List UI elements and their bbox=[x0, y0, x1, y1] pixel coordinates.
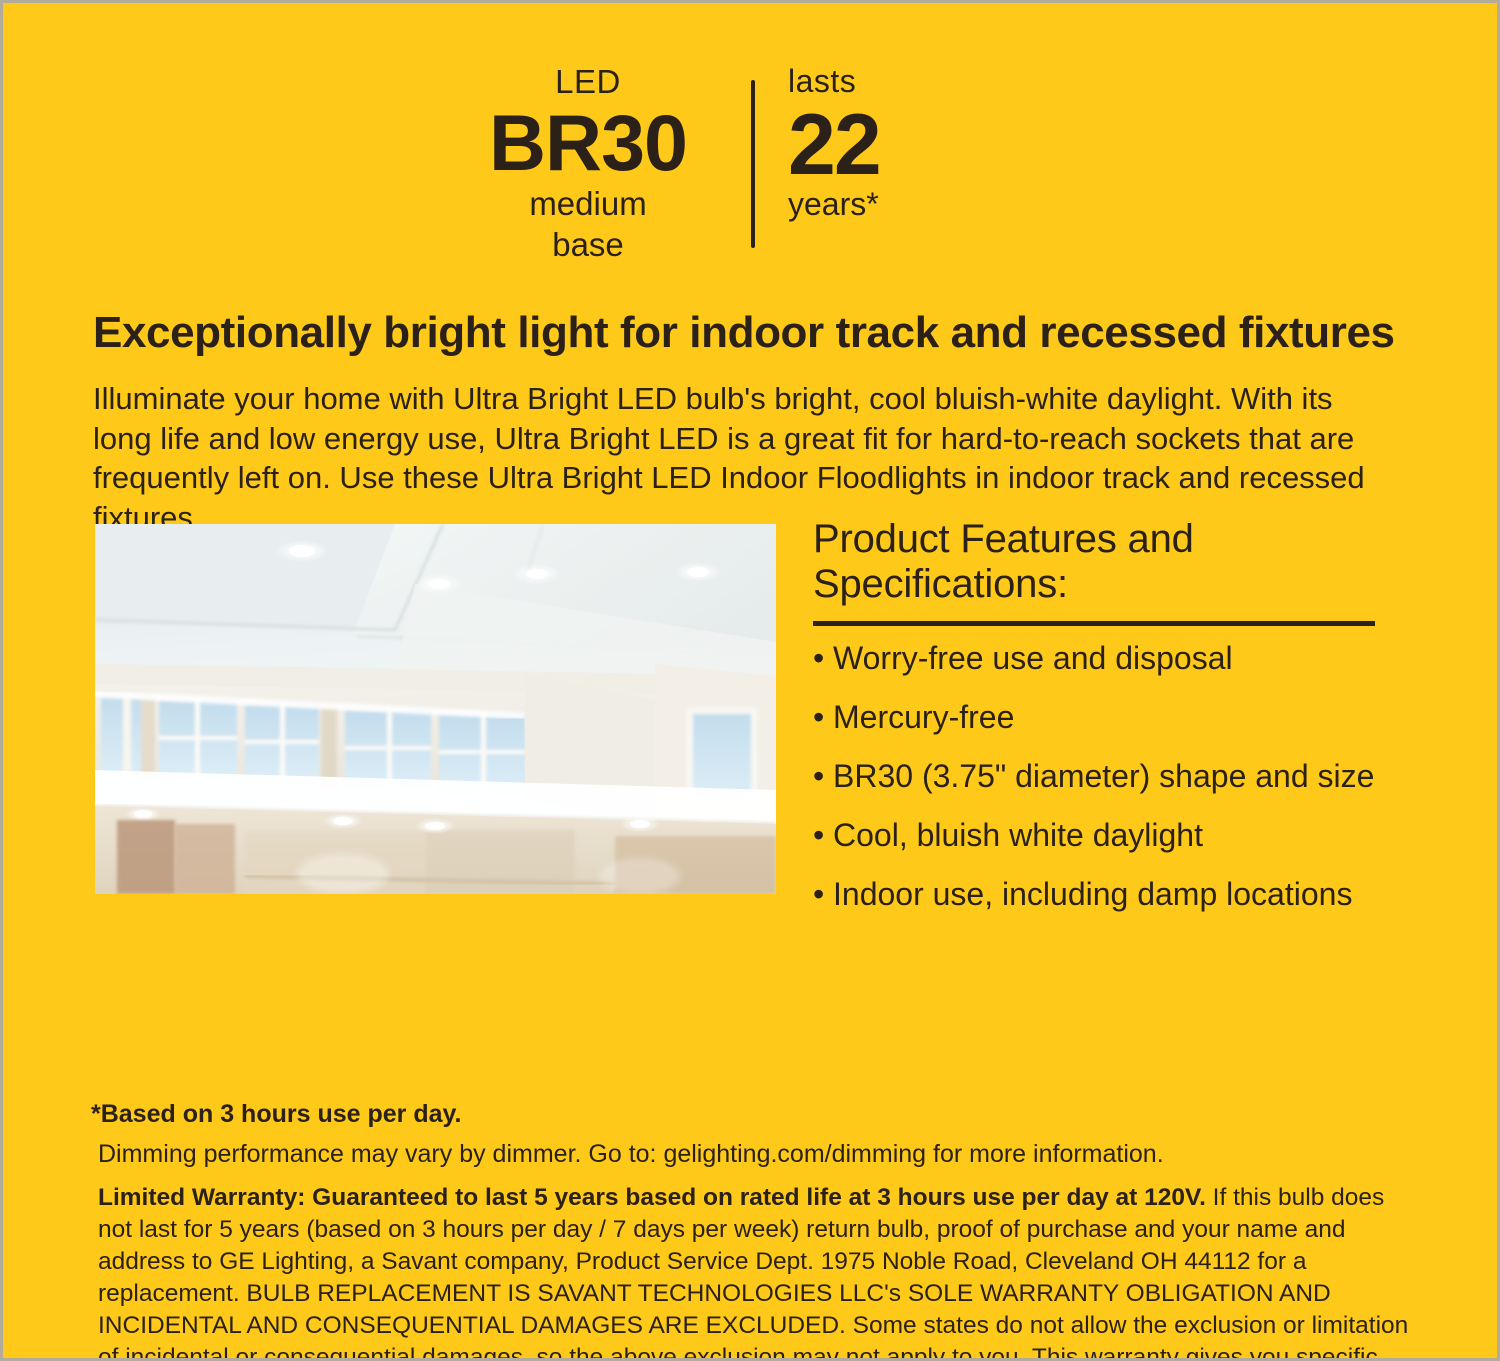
list-item-label: Cool, bluish white daylight bbox=[833, 819, 1203, 851]
room-photo bbox=[95, 524, 776, 894]
list-item: • Worry-free use and disposal bbox=[813, 642, 1383, 674]
lifespan-unit: years* bbox=[788, 187, 1055, 221]
features-divider bbox=[813, 621, 1375, 626]
list-item-label: Mercury-free bbox=[833, 701, 1014, 733]
bulb-type-value: BR30 bbox=[451, 104, 725, 181]
bullet-icon: • bbox=[813, 878, 833, 910]
footer-legal: *Based on 3 hours use per day. Dimming p… bbox=[91, 1099, 1421, 1361]
lifespan-block: lasts 22 years* bbox=[755, 65, 1055, 222]
features-title-line2: Specifications: bbox=[813, 562, 1383, 607]
lifespan-value: 22 bbox=[788, 103, 1055, 187]
bulb-base-line2: base bbox=[451, 227, 725, 262]
spec-header: LED BR30 medium base lasts 22 years* bbox=[3, 65, 1500, 262]
bullet-icon: • bbox=[813, 760, 833, 792]
list-item-label: Indoor use, including damp locations bbox=[833, 878, 1352, 910]
bullet-icon: • bbox=[813, 701, 833, 733]
product-features-section: Product Features and Specifications: • W… bbox=[813, 517, 1383, 937]
list-item: • Cool, bluish white daylight bbox=[813, 819, 1383, 851]
bulb-base-line1: medium bbox=[451, 186, 725, 221]
list-item: • Indoor use, including damp locations bbox=[813, 878, 1383, 910]
footnote-dimming: Dimming performance may vary by dimmer. … bbox=[98, 1139, 1421, 1170]
bullet-icon: • bbox=[813, 819, 833, 851]
lifespan-kicker: lasts bbox=[788, 65, 1055, 97]
intro-paragraph: Illuminate your home with Ultra Bright L… bbox=[93, 379, 1373, 538]
page-title: Exceptionally bright light for indoor tr… bbox=[93, 309, 1413, 357]
features-title-line1: Product Features and bbox=[813, 517, 1383, 562]
room-photo-illustration bbox=[95, 524, 776, 894]
features-list: • Worry-free use and disposal • Mercury-… bbox=[813, 642, 1383, 910]
warranty-headline: Limited Warranty: Guaranteed to last 5 y… bbox=[98, 1184, 1206, 1211]
list-item: • Mercury-free bbox=[813, 701, 1383, 733]
warranty-text: Limited Warranty: Guaranteed to last 5 y… bbox=[98, 1182, 1421, 1361]
list-item-label: Worry-free use and disposal bbox=[833, 642, 1233, 674]
footnote-hours: *Based on 3 hours use per day. bbox=[91, 1099, 1421, 1130]
bulb-type-kicker: LED bbox=[451, 65, 725, 98]
list-item: • BR30 (3.75" diameter) shape and size bbox=[813, 760, 1383, 792]
product-packaging-panel: LED BR30 medium base lasts 22 years* Exc… bbox=[0, 0, 1500, 1361]
list-item-label: BR30 (3.75" diameter) shape and size bbox=[833, 760, 1374, 792]
bullet-icon: • bbox=[813, 642, 833, 674]
bulb-type-block: LED BR30 medium base bbox=[451, 65, 751, 262]
